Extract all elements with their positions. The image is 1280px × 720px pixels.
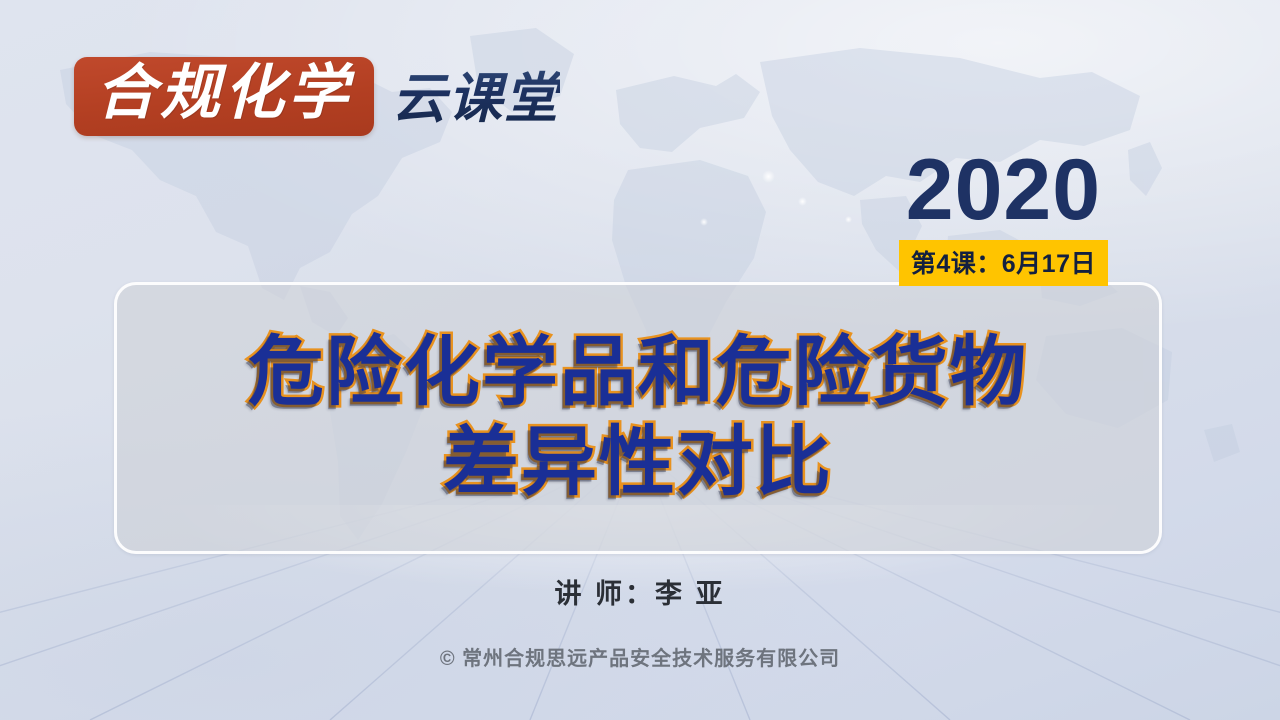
copyright-label: © 常州合规思远产品安全技术服务有限公司: [0, 642, 1280, 671]
sparkle-dot: [845, 216, 852, 223]
logo-sub-text: 云课堂: [392, 54, 560, 139]
lesson-date-badge: 第4课：6月17日: [899, 240, 1108, 286]
year-block: 2020 第4课：6月17日: [899, 150, 1108, 286]
sparkle-dot: [798, 197, 807, 206]
sparkle-dot: [762, 170, 775, 183]
title-line-2: 差异性对比: [443, 419, 833, 507]
logo-main-text: 合规化学: [96, 62, 352, 126]
brand-logo[interactable]: 合规化学 云课堂: [74, 54, 560, 139]
sparkle-dot: [700, 218, 708, 226]
logo-badge: 合规化学: [74, 57, 374, 137]
speaker-label: 讲 师：李 亚: [0, 572, 1280, 611]
slide-cover: 合规化学 云课堂 2020 第4课：6月17日 危险化学品和危险货物 差异性对比…: [0, 0, 1280, 720]
title-panel: 危险化学品和危险货物 差异性对比: [114, 282, 1162, 554]
year-label: 2020: [899, 150, 1108, 232]
title-line-1: 危险化学品和危险货物: [248, 329, 1028, 417]
